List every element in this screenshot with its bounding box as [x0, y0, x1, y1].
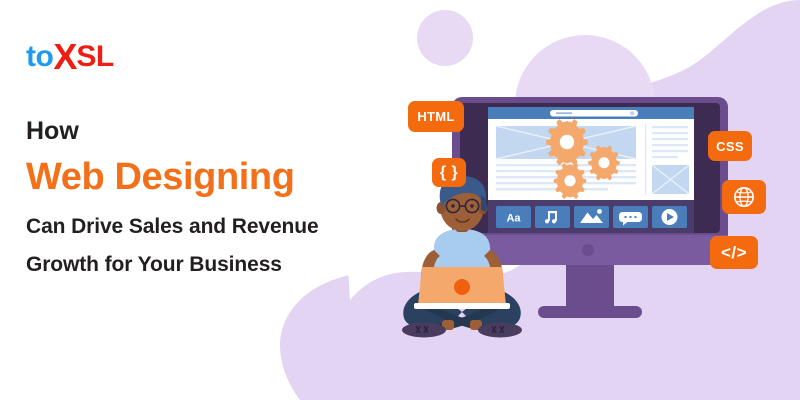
- character-eye-right: [470, 204, 473, 207]
- badge-css[interactable]: CSS: [708, 131, 752, 161]
- badge-css-label: CSS: [716, 139, 744, 154]
- laptop-base: [414, 303, 510, 309]
- monitor-screen: Aa: [488, 107, 694, 233]
- badge-html[interactable]: HTML: [408, 101, 464, 132]
- toolbar-item-image[interactable]: [574, 206, 609, 228]
- badge-curly-label: { }: [440, 164, 458, 182]
- text-tool-icon: Aa: [506, 213, 521, 225]
- character-shoe-right: [478, 323, 522, 338]
- toolbar-tile-music: [535, 206, 570, 228]
- laptop: [414, 267, 510, 309]
- sidebar-divider: [645, 124, 646, 194]
- toolbar-item-music[interactable]: [535, 206, 570, 228]
- illustration-svg: Aa: [0, 0, 800, 400]
- video-tool-icon: [662, 209, 678, 225]
- badge-code-brackets[interactable]: </>: [710, 236, 758, 269]
- badge-globe[interactable]: [722, 180, 766, 214]
- toolbar-item-video[interactable]: [652, 206, 687, 228]
- toolbar-item-text[interactable]: Aa: [496, 206, 531, 228]
- character-shoe-left: [402, 323, 446, 338]
- address-field-dot: [630, 111, 634, 115]
- character-eye-left: [451, 204, 454, 207]
- badge-curly-braces[interactable]: { }: [432, 158, 466, 187]
- badge-code-label: </>: [721, 243, 747, 263]
- toolbar-item-chat[interactable]: [613, 206, 648, 228]
- monitor-power-button: [582, 244, 594, 256]
- badge-html-label: HTML: [417, 109, 454, 124]
- address-text-placeholder: [556, 112, 572, 114]
- monitor-stand-neck: [566, 265, 614, 310]
- toolbar-tile-image: [574, 206, 609, 228]
- laptop-logo: [454, 279, 470, 295]
- screen-toolbar: Aa: [488, 200, 694, 233]
- globe-icon: [732, 185, 756, 209]
- banner-root: toXSL How Web Designing Can Drive Sales …: [0, 0, 800, 400]
